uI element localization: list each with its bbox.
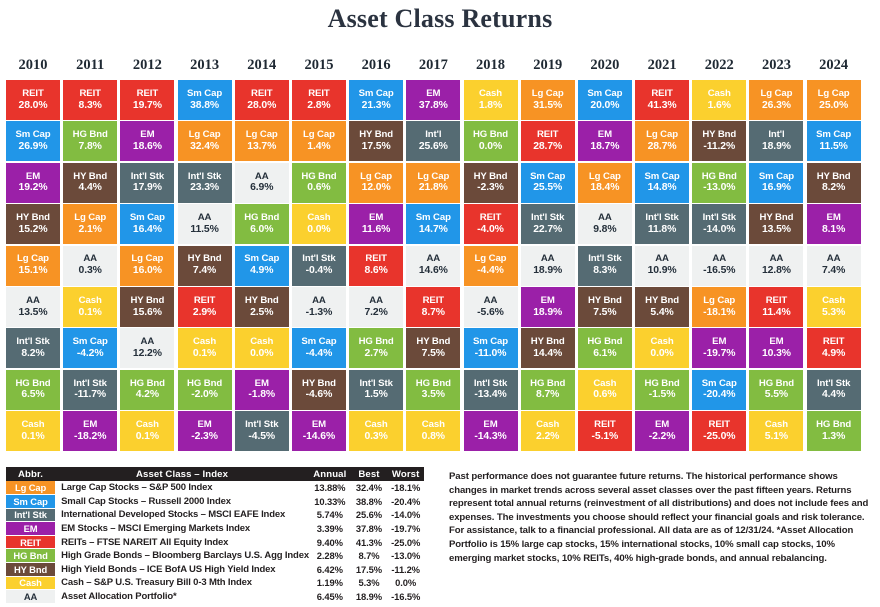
return-cell[interactable]: HY Bnd4.4% bbox=[63, 163, 117, 203]
return-cell[interactable]: HY Bnd17.5% bbox=[349, 121, 403, 161]
return-cell[interactable]: Lg Cap25.0% bbox=[807, 80, 861, 120]
return-cell[interactable]: Cash5.1% bbox=[749, 411, 803, 451]
return-cell[interactable]: HY Bnd-4.6% bbox=[292, 370, 346, 410]
return-cell[interactable]: REIT-25.0% bbox=[692, 411, 746, 451]
legend-worst-return: 0.0% bbox=[387, 576, 424, 590]
asset-label: AA bbox=[426, 254, 440, 265]
asset-label: HY Bnd bbox=[416, 337, 450, 348]
return-cell[interactable]: HG Bnd-13.0% bbox=[692, 163, 746, 203]
return-cell[interactable]: HG Bnd0.0% bbox=[464, 121, 518, 161]
asset-label: EM bbox=[598, 130, 612, 141]
return-cell[interactable]: EM-19.7% bbox=[692, 328, 746, 368]
year-header-2010: 2010 bbox=[6, 57, 60, 74]
return-value: 2.8% bbox=[307, 100, 330, 112]
legend-worst-return: -18.1% bbox=[387, 481, 424, 495]
legend-annual-return: 2.28% bbox=[309, 549, 351, 563]
return-cell[interactable]: Int'l Stk1.5% bbox=[349, 370, 403, 410]
return-cell[interactable]: Int'l Stk-14.0% bbox=[692, 204, 746, 244]
return-cell[interactable]: Int'l Stk-11.7% bbox=[63, 370, 117, 410]
return-cell[interactable]: Sm Cap25.5% bbox=[521, 163, 575, 203]
return-cell[interactable]: HY Bnd7.4% bbox=[178, 246, 232, 286]
asset-label: Sm Cap bbox=[702, 379, 737, 390]
return-value: -4.0% bbox=[477, 224, 504, 236]
return-value: -13.4% bbox=[474, 389, 506, 401]
return-cell[interactable]: HG Bnd6.1% bbox=[578, 328, 632, 368]
return-value: -1.3% bbox=[306, 307, 333, 319]
legend-row[interactable]: CashCash – S&P U.S. Treasury Bill 0-3 Mt… bbox=[6, 576, 424, 590]
legend-asset-name: Small Cap Stocks – Russell 2000 Index bbox=[55, 495, 309, 509]
return-cell[interactable]: REIT2.9% bbox=[178, 287, 232, 327]
asset-label: Lg Cap bbox=[303, 130, 335, 141]
legend-table: Abbr. Asset Class – Index Annual Best Wo… bbox=[6, 467, 424, 604]
return-value: -4.4% bbox=[477, 265, 504, 277]
returns-column-2021: REIT41.3%Lg Cap28.7%Sm Cap14.8%Int'l Stk… bbox=[635, 80, 689, 453]
return-cell[interactable]: Int'l Stk-4.5% bbox=[235, 411, 289, 451]
return-cell[interactable]: HG Bnd0.6% bbox=[292, 163, 346, 203]
return-value: 0.0% bbox=[650, 348, 673, 360]
asset-label: AA bbox=[369, 296, 383, 307]
return-cell[interactable]: EM8.1% bbox=[807, 204, 861, 244]
asset-label: Cash bbox=[79, 296, 102, 307]
return-value: 14.8% bbox=[648, 182, 677, 194]
asset-label: REIT bbox=[537, 130, 558, 141]
return-cell[interactable]: EM-1.8% bbox=[235, 370, 289, 410]
legend-row[interactable]: Int'l StkInternational Developed Stocks … bbox=[6, 508, 424, 522]
year-header-2020: 2020 bbox=[578, 57, 632, 74]
return-cell[interactable]: HG Bnd2.7% bbox=[349, 328, 403, 368]
return-value: 2.9% bbox=[193, 307, 216, 319]
asset-label: Sm Cap bbox=[244, 254, 279, 265]
return-cell[interactable]: REIT28.0% bbox=[6, 80, 60, 120]
return-cell[interactable]: EM37.8% bbox=[406, 80, 460, 120]
return-cell[interactable]: EM-2.2% bbox=[635, 411, 689, 451]
return-cell[interactable]: AA10.9% bbox=[635, 246, 689, 286]
return-cell[interactable]: Int'l Stk17.9% bbox=[120, 163, 174, 203]
return-cell[interactable]: REIT4.9% bbox=[807, 328, 861, 368]
return-cell[interactable]: HG Bnd4.2% bbox=[120, 370, 174, 410]
asset-label: Cash bbox=[21, 420, 44, 431]
return-cell[interactable]: AA13.5% bbox=[6, 287, 60, 327]
return-value: -2.2% bbox=[649, 431, 676, 443]
return-value: 16.0% bbox=[133, 265, 162, 277]
return-value: 0.6% bbox=[593, 389, 616, 401]
return-cell[interactable]: AA7.2% bbox=[349, 287, 403, 327]
return-cell[interactable]: Sm Cap-20.4% bbox=[692, 370, 746, 410]
legend-asset-name: High Grade Bonds – Bloomberg Barclays U.… bbox=[55, 549, 309, 563]
return-cell[interactable]: AA-16.5% bbox=[692, 246, 746, 286]
return-value: 10.9% bbox=[648, 265, 677, 277]
return-cell[interactable]: Int'l Stk-13.4% bbox=[464, 370, 518, 410]
return-cell[interactable]: HY Bnd15.6% bbox=[120, 287, 174, 327]
year-header-2018: 2018 bbox=[464, 57, 518, 74]
return-cell[interactable]: HG Bnd-2.0% bbox=[178, 370, 232, 410]
return-cell[interactable]: Cash0.1% bbox=[6, 411, 60, 451]
return-cell[interactable]: EM18.6% bbox=[120, 121, 174, 161]
return-cell[interactable]: Sm Cap26.9% bbox=[6, 121, 60, 161]
return-cell[interactable]: Cash0.1% bbox=[63, 287, 117, 327]
asset-label: HY Bnd bbox=[474, 172, 508, 183]
asset-label: Lg Cap bbox=[589, 172, 621, 183]
year-header-2017: 2017 bbox=[406, 57, 460, 74]
return-value: 10.3% bbox=[762, 348, 791, 360]
return-cell[interactable]: Sm Cap-11.0% bbox=[464, 328, 518, 368]
return-cell[interactable]: AA12.2% bbox=[120, 328, 174, 368]
return-cell[interactable]: Lg Cap13.7% bbox=[235, 121, 289, 161]
return-cell[interactable]: Cash0.1% bbox=[178, 328, 232, 368]
asset-label: AA bbox=[484, 296, 498, 307]
return-value: 8.7% bbox=[536, 389, 559, 401]
return-cell[interactable]: Cash0.3% bbox=[349, 411, 403, 451]
return-value: 28.7% bbox=[648, 141, 677, 153]
return-value: 8.7% bbox=[422, 307, 445, 319]
return-cell[interactable]: Lg Cap12.0% bbox=[349, 163, 403, 203]
asset-label: EM bbox=[255, 379, 269, 390]
year-header-2013: 2013 bbox=[178, 57, 232, 74]
return-value: -1.8% bbox=[248, 389, 275, 401]
return-value: -4.4% bbox=[306, 348, 333, 360]
asset-label: Sm Cap bbox=[301, 337, 336, 348]
return-cell[interactable]: Int'l25.6% bbox=[406, 121, 460, 161]
return-cell[interactable]: Int'l Stk-0.4% bbox=[292, 246, 346, 286]
return-cell[interactable]: REIT28.0% bbox=[235, 80, 289, 120]
asset-label: AA bbox=[141, 337, 155, 348]
return-value: 1.3% bbox=[822, 431, 845, 443]
return-cell[interactable]: AA9.8% bbox=[578, 204, 632, 244]
asset-label: Sm Cap bbox=[645, 172, 680, 183]
return-cell[interactable]: EM-2.3% bbox=[178, 411, 232, 451]
asset-label: REIT bbox=[365, 254, 386, 265]
asset-label: Lg Cap bbox=[189, 130, 221, 141]
return-value: 22.7% bbox=[533, 224, 562, 236]
return-cell[interactable]: Lg Cap2.1% bbox=[63, 204, 117, 244]
return-value: -2.0% bbox=[191, 389, 218, 401]
return-cell[interactable]: Cash2.2% bbox=[521, 411, 575, 451]
return-cell[interactable]: Sm Cap21.3% bbox=[349, 80, 403, 120]
return-cell[interactable]: Cash0.0% bbox=[292, 204, 346, 244]
returns-column-2022: Cash1.6%HY Bnd-11.2%HG Bnd-13.0%Int'l St… bbox=[692, 80, 746, 453]
return-cell[interactable]: HG Bnd3.5% bbox=[406, 370, 460, 410]
return-cell[interactable]: Cash0.0% bbox=[635, 328, 689, 368]
legend-row[interactable]: Sm CapSmall Cap Stocks – Russell 2000 In… bbox=[6, 495, 424, 509]
asset-label: Int'l bbox=[768, 130, 784, 141]
return-cell[interactable]: Lg Cap28.7% bbox=[635, 121, 689, 161]
return-cell[interactable]: Sm Cap14.8% bbox=[635, 163, 689, 203]
return-cell[interactable]: HY Bnd7.5% bbox=[578, 287, 632, 327]
return-cell[interactable]: REIT41.3% bbox=[635, 80, 689, 120]
return-value: 20.0% bbox=[590, 100, 619, 112]
legend-asset-name: EM Stocks – MSCI Emerging Markets Index bbox=[55, 522, 309, 536]
year-header-2012: 2012 bbox=[120, 57, 174, 74]
returns-column-2013: Sm Cap38.8%Lg Cap32.4%Int'l Stk23.3%AA11… bbox=[178, 80, 232, 453]
asset-label: Sm Cap bbox=[416, 213, 451, 224]
asset-label: Int'l Stk bbox=[74, 379, 107, 390]
return-value: 25.6% bbox=[419, 141, 448, 153]
return-cell[interactable]: AA14.6% bbox=[406, 246, 460, 286]
return-cell[interactable]: AA-1.3% bbox=[292, 287, 346, 327]
return-value: 5.4% bbox=[650, 307, 673, 319]
asset-label: REIT bbox=[137, 89, 158, 100]
return-cell[interactable]: Sm Cap16.9% bbox=[749, 163, 803, 203]
legend-row[interactable]: HG BndHigh Grade Bonds – Bloomberg Barcl… bbox=[6, 549, 424, 563]
return-cell[interactable]: Sm Cap4.9% bbox=[235, 246, 289, 286]
legend-row[interactable]: AAAsset Allocation Portfolio*6.45%18.9%-… bbox=[6, 590, 424, 604]
return-cell[interactable]: AA12.8% bbox=[749, 246, 803, 286]
asset-label: Lg Cap bbox=[417, 172, 449, 183]
return-cell[interactable]: Sm Cap14.7% bbox=[406, 204, 460, 244]
legend-row[interactable]: EMEM Stocks – MSCI Emerging Markets Inde… bbox=[6, 522, 424, 536]
return-cell[interactable]: HG Bnd7.8% bbox=[63, 121, 117, 161]
return-cell[interactable]: Int'l Stk11.8% bbox=[635, 204, 689, 244]
return-value: 16.9% bbox=[762, 182, 791, 194]
return-cell[interactable]: REIT2.8% bbox=[292, 80, 346, 120]
return-value: 32.4% bbox=[190, 141, 219, 153]
return-cell[interactable]: HG Bnd6.0% bbox=[235, 204, 289, 244]
return-cell[interactable]: REIT19.7% bbox=[120, 80, 174, 120]
legend-annual-return: 5.74% bbox=[309, 508, 351, 522]
return-cell[interactable]: Lg Cap31.5% bbox=[521, 80, 575, 120]
return-cell[interactable]: Int'l Stk8.3% bbox=[578, 246, 632, 286]
return-cell[interactable]: Lg Cap32.4% bbox=[178, 121, 232, 161]
return-cell[interactable]: HG Bnd6.5% bbox=[6, 370, 60, 410]
return-cell[interactable]: Lg Cap-4.4% bbox=[464, 246, 518, 286]
legend-annual-return: 6.45% bbox=[309, 590, 351, 604]
legend-row[interactable]: HY BndHigh Yield Bonds – ICE BofA US Hig… bbox=[6, 563, 424, 577]
disclaimer-footnote: Past performance does not guarantee futu… bbox=[449, 470, 874, 565]
legend-abbr-swatch: Int'l Stk bbox=[6, 508, 55, 522]
return-value: -14.6% bbox=[303, 431, 335, 443]
return-cell[interactable]: Lg Cap16.0% bbox=[120, 246, 174, 286]
return-cell[interactable]: HY Bnd2.5% bbox=[235, 287, 289, 327]
return-cell[interactable]: REIT-4.0% bbox=[464, 204, 518, 244]
return-value: 17.5% bbox=[362, 141, 391, 153]
return-cell[interactable]: HG Bnd8.7% bbox=[521, 370, 575, 410]
return-value: 14.7% bbox=[419, 224, 448, 236]
asset-label: Lg Cap bbox=[475, 254, 507, 265]
legend-row[interactable]: REITREITs – FTSE NAREIT All Equity Index… bbox=[6, 535, 424, 549]
return-value: 17.9% bbox=[133, 182, 162, 194]
returns-column-2012: REIT19.7%EM18.6%Int'l Stk17.9%Sm Cap16.4… bbox=[120, 80, 174, 453]
return-cell[interactable]: Sm Cap20.0% bbox=[578, 80, 632, 120]
asset-label: REIT bbox=[594, 420, 615, 431]
return-cell[interactable]: REIT8.3% bbox=[63, 80, 117, 120]
return-cell[interactable]: Cash5.3% bbox=[807, 287, 861, 327]
return-cell[interactable]: HY Bnd-2.3% bbox=[464, 163, 518, 203]
return-cell[interactable]: HY Bnd8.2% bbox=[807, 163, 861, 203]
return-value: -11.7% bbox=[74, 389, 106, 401]
return-value: 21.3% bbox=[362, 100, 391, 112]
return-value: -4.6% bbox=[306, 389, 333, 401]
return-value: 6.1% bbox=[593, 348, 616, 360]
return-value: 0.1% bbox=[21, 431, 44, 443]
return-value: 19.2% bbox=[19, 182, 48, 194]
asset-label: Cash bbox=[479, 89, 502, 100]
return-cell[interactable]: Cash0.6% bbox=[578, 370, 632, 410]
legend-abbr-swatch: Sm Cap bbox=[6, 495, 55, 509]
return-cell[interactable]: AA6.9% bbox=[235, 163, 289, 203]
returns-column-2011: REIT8.3%HG Bnd7.8%HY Bnd4.4%Lg Cap2.1%AA… bbox=[63, 80, 117, 453]
return-cell[interactable]: HY Bnd14.4% bbox=[521, 328, 575, 368]
return-value: 4.4% bbox=[822, 389, 845, 401]
asset-label: AA bbox=[712, 254, 726, 265]
legend-best-return: 32.4% bbox=[351, 481, 388, 495]
return-value: 38.8% bbox=[190, 100, 219, 112]
legend-abbr-swatch: HY Bnd bbox=[6, 563, 55, 577]
asset-label: AA bbox=[655, 254, 669, 265]
return-cell[interactable]: EM-14.3% bbox=[464, 411, 518, 451]
asset-label: HG Bnd bbox=[645, 379, 680, 390]
return-cell[interactable]: Int'l Stk22.7% bbox=[521, 204, 575, 244]
return-cell[interactable]: Int'l Stk23.3% bbox=[178, 163, 232, 203]
return-cell[interactable]: Sm Cap16.4% bbox=[120, 204, 174, 244]
return-value: 0.0% bbox=[250, 348, 273, 360]
return-cell[interactable]: Sm Cap-4.4% bbox=[292, 328, 346, 368]
return-cell[interactable]: REIT8.7% bbox=[406, 287, 460, 327]
return-cell[interactable]: Lg Cap26.3% bbox=[749, 80, 803, 120]
return-cell[interactable]: Cash0.1% bbox=[120, 411, 174, 451]
asset-label: HG Bnd bbox=[816, 420, 851, 431]
legend-row[interactable]: Lg CapLarge Cap Stocks – S&P 500 Index13… bbox=[6, 481, 424, 495]
asset-label: HY Bnd bbox=[302, 379, 336, 390]
returns-column-2024: Lg Cap25.0%Sm Cap11.5%HY Bnd8.2%EM8.1%AA… bbox=[807, 80, 861, 453]
return-cell[interactable]: AA7.4% bbox=[807, 246, 861, 286]
asset-label: REIT bbox=[480, 213, 501, 224]
legend-asset-name: International Developed Stocks – MSCI EA… bbox=[55, 508, 309, 522]
return-value: 2.1% bbox=[79, 224, 102, 236]
return-cell[interactable]: HG Bnd5.5% bbox=[749, 370, 803, 410]
asset-label: REIT bbox=[423, 296, 444, 307]
return-cell[interactable]: REIT8.6% bbox=[349, 246, 403, 286]
return-cell[interactable]: Lg Cap1.4% bbox=[292, 121, 346, 161]
asset-label: Sm Cap bbox=[587, 89, 622, 100]
return-cell[interactable]: Lg Cap21.8% bbox=[406, 163, 460, 203]
return-cell[interactable]: HG Bnd-1.5% bbox=[635, 370, 689, 410]
year-header-2022: 2022 bbox=[692, 57, 746, 74]
return-value: 0.3% bbox=[79, 265, 102, 277]
legend-annual-return: 10.33% bbox=[309, 495, 351, 509]
return-cell[interactable]: Cash0.0% bbox=[235, 328, 289, 368]
legend-worst-return: -16.5% bbox=[387, 590, 424, 604]
asset-label: HG Bnd bbox=[416, 379, 451, 390]
return-value: 0.1% bbox=[79, 307, 102, 319]
legend-worst-return: -11.2% bbox=[387, 563, 424, 577]
return-value: -4.5% bbox=[248, 431, 275, 443]
asset-label: Cash bbox=[422, 420, 445, 431]
asset-label: Cash bbox=[822, 296, 845, 307]
legend-header-worst: Worst bbox=[387, 467, 424, 481]
return-value: 6.0% bbox=[250, 224, 273, 236]
asset-label: Int'l Stk bbox=[588, 254, 621, 265]
return-cell[interactable]: REIT-5.1% bbox=[578, 411, 632, 451]
return-cell[interactable]: Int'l Stk8.2% bbox=[6, 328, 60, 368]
asset-label: Int'l Stk bbox=[645, 213, 678, 224]
return-cell[interactable]: Sm Cap11.5% bbox=[807, 121, 861, 161]
asset-label: Sm Cap bbox=[359, 89, 394, 100]
return-cell[interactable]: EM19.2% bbox=[6, 163, 60, 203]
return-cell[interactable]: Cash1.8% bbox=[464, 80, 518, 120]
return-cell[interactable]: EM-18.2% bbox=[63, 411, 117, 451]
return-value: 8.1% bbox=[822, 224, 845, 236]
legend-header-best: Best bbox=[351, 467, 388, 481]
return-cell[interactable]: AA0.3% bbox=[63, 246, 117, 286]
return-cell[interactable]: AA11.5% bbox=[178, 204, 232, 244]
return-cell[interactable]: HY Bnd7.5% bbox=[406, 328, 460, 368]
asset-label: AA bbox=[198, 213, 212, 224]
return-value: 12.2% bbox=[133, 348, 162, 360]
return-cell[interactable]: Cash1.6% bbox=[692, 80, 746, 120]
return-cell[interactable]: HY Bnd13.5% bbox=[749, 204, 803, 244]
asset-label: AA bbox=[312, 296, 326, 307]
asset-label: Int'l Stk bbox=[531, 213, 564, 224]
return-cell[interactable]: EM10.3% bbox=[749, 328, 803, 368]
return-value: 15.2% bbox=[19, 224, 48, 236]
asset-label: Sm Cap bbox=[473, 337, 508, 348]
asset-label: HG Bnd bbox=[359, 337, 394, 348]
returns-column-2023: Lg Cap26.3%Int'l18.9%Sm Cap16.9%HY Bnd13… bbox=[749, 80, 803, 453]
return-cell[interactable]: REIT11.4% bbox=[749, 287, 803, 327]
returns-matrix: 2010201120122013201420152016201720182019… bbox=[6, 52, 874, 453]
return-cell[interactable]: HG Bnd1.3% bbox=[807, 411, 861, 451]
return-cell[interactable]: EM-14.6% bbox=[292, 411, 346, 451]
return-cell[interactable]: Cash0.8% bbox=[406, 411, 460, 451]
legend-worst-return: -13.0% bbox=[387, 549, 424, 563]
legend-worst-return: -14.0% bbox=[387, 508, 424, 522]
return-cell[interactable]: Int'l Stk4.4% bbox=[807, 370, 861, 410]
return-cell[interactable]: Lg Cap15.1% bbox=[6, 246, 60, 286]
return-cell[interactable]: AA-5.6% bbox=[464, 287, 518, 327]
return-value: -20.4% bbox=[703, 389, 735, 401]
asset-label: HY Bnd bbox=[73, 172, 107, 183]
asset-label: EM bbox=[140, 130, 154, 141]
return-cell[interactable]: Lg Cap-18.1% bbox=[692, 287, 746, 327]
return-value: 15.1% bbox=[19, 265, 48, 277]
return-cell[interactable]: Lg Cap18.4% bbox=[578, 163, 632, 203]
asset-label: AA bbox=[770, 254, 784, 265]
return-value: -25.0% bbox=[703, 431, 735, 443]
return-value: 0.3% bbox=[364, 431, 387, 443]
return-cell[interactable]: AA18.9% bbox=[521, 246, 575, 286]
asset-label: Int'l Stk bbox=[817, 379, 850, 390]
return-cell[interactable]: Int'l18.9% bbox=[749, 121, 803, 161]
return-value: 26.3% bbox=[762, 100, 791, 112]
asset-label: Int'l Stk bbox=[131, 172, 164, 183]
return-value: 1.6% bbox=[708, 100, 731, 112]
year-header-2019: 2019 bbox=[521, 57, 575, 74]
return-cell[interactable]: Sm Cap38.8% bbox=[178, 80, 232, 120]
page-title: Asset Class Returns bbox=[0, 4, 880, 34]
asset-label: Int'l Stk bbox=[359, 379, 392, 390]
return-value: 37.8% bbox=[419, 100, 448, 112]
asset-label: Sm Cap bbox=[15, 130, 50, 141]
return-value: -4.2% bbox=[77, 348, 104, 360]
return-cell[interactable]: EM18.7% bbox=[578, 121, 632, 161]
legend-best-return: 5.3% bbox=[351, 576, 388, 590]
return-cell[interactable]: Sm Cap-4.2% bbox=[63, 328, 117, 368]
return-value: -13.0% bbox=[703, 182, 735, 194]
return-cell[interactable]: EM18.9% bbox=[521, 287, 575, 327]
return-value: 18.9% bbox=[762, 141, 791, 153]
return-cell[interactable]: REIT28.7% bbox=[521, 121, 575, 161]
return-value: -5.6% bbox=[477, 307, 504, 319]
return-value: 18.6% bbox=[133, 141, 162, 153]
asset-label: HG Bnd bbox=[301, 172, 336, 183]
return-cell[interactable]: HY Bnd-11.2% bbox=[692, 121, 746, 161]
return-cell[interactable]: EM11.6% bbox=[349, 204, 403, 244]
asset-label: Sm Cap bbox=[816, 130, 851, 141]
asset-label: AA bbox=[541, 254, 555, 265]
asset-label: HG Bnd bbox=[702, 172, 737, 183]
return-cell[interactable]: HY Bnd15.2% bbox=[6, 204, 60, 244]
return-cell[interactable]: HY Bnd5.4% bbox=[635, 287, 689, 327]
